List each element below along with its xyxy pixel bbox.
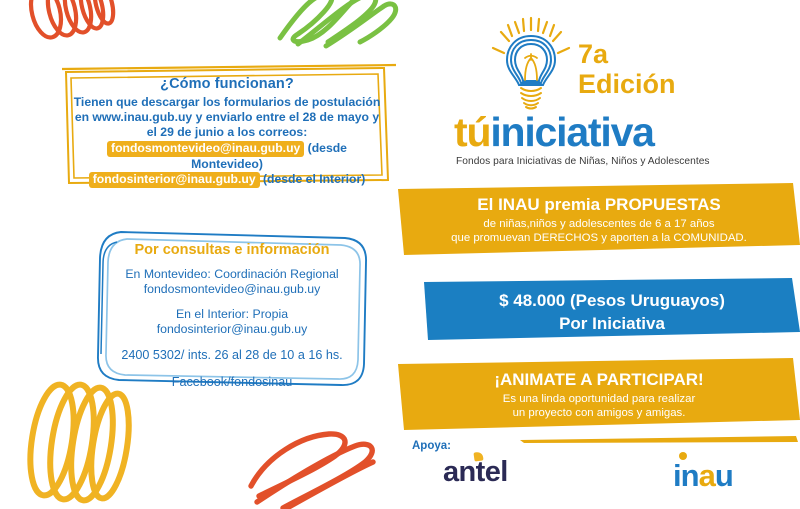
contact-int-label: En el Interior: Propia (109, 307, 355, 322)
banner-propuestas: El INAU premia PROPUESTAS de niñas,niños… (398, 183, 800, 255)
contact-mvd-email[interactable]: fondosmontevideo@inau.gub.uy (109, 282, 355, 297)
inau-letter-i: i (673, 458, 681, 493)
scribble-yellow-bottom-left (18, 378, 148, 509)
decor-line-yellow-bottom-right (398, 434, 800, 444)
how-box-email2-row: fondosinterior@inau.gub.uy (desde el Int… (71, 172, 383, 188)
banner-monto-sub1: Por Iniciativa (424, 313, 800, 334)
contact-mvd-label: En Montevideo: Coordinación Regional (109, 267, 355, 282)
contact-phone: 2400 5302/ ints. 26 al 28 de 10 a 16 hs. (109, 348, 355, 362)
banner-animate-sub2: un proyecto con amigos y amigas. (398, 406, 800, 420)
banner-propuestas-text: El INAU premia PROPUESTAS de niñas,niños… (398, 183, 800, 245)
banner-monto-title: $ 48.000 (Pesos Uruguayos) (424, 290, 800, 311)
how-box-title: ¿Cómo funcionan? (71, 76, 383, 92)
how-box-line1: Tienen que descargar los formularios de … (71, 95, 383, 110)
banner-animate-sub1: Es una linda oportunidad para realizar (398, 392, 800, 406)
inau-letter-u: u (715, 458, 733, 493)
contact-info-box: Por consultas e información En Montevide… (95, 228, 367, 391)
edition-label: 7a Edición (578, 39, 676, 99)
banner-propuestas-sub2: que promuevan DERECHOS y aporten a la CO… (398, 231, 800, 245)
inau-logo: inau (673, 458, 733, 494)
antel-accent-icon (473, 451, 483, 461)
wordmark-iniciativa: iniciativa (490, 109, 653, 155)
wordmark: túiniciativa (454, 110, 654, 154)
lightbulb-icon (485, 14, 577, 114)
scribble-orange-bottom-center (243, 428, 383, 509)
poster-canvas: ¿Cómo funcionan? Tienen que descargar lo… (0, 0, 800, 509)
inau-sun-icon (679, 452, 687, 460)
banner-animate-title: ¡ANIMATE A PARTICIPAR! (398, 370, 800, 390)
wordmark-tu: tú (454, 109, 490, 155)
how-box-email1-row: fondosmontevideo@inau.gub.uy (desde Mont… (71, 141, 383, 172)
scribble-orange-top-left (18, 0, 128, 54)
banner-propuestas-sub1: de niñas,niños y adolescentes de 6 a 17 … (398, 217, 800, 231)
banner-animate-text: ¡ANIMATE A PARTICIPAR! Es una linda opor… (398, 358, 800, 420)
email2-note: (desde el Interior) (260, 172, 366, 186)
banner-monto: $ 48.000 (Pesos Uruguayos) Por Iniciativ… (424, 278, 800, 340)
contact-gap (109, 298, 355, 307)
how-box-line2: en www.inau.gub.uy y enviarlo entre el 2… (71, 110, 383, 125)
contact-int-email[interactable]: fondosinterior@inau.gub.uy (109, 322, 355, 337)
inau-letter-a: a (699, 458, 715, 493)
contact-box-title: Por consultas e información (109, 242, 355, 258)
email-chip-interior[interactable]: fondosinterior@inau.gub.uy (89, 172, 260, 188)
email-chip-montevideo[interactable]: fondosmontevideo@inau.gub.uy (107, 141, 304, 157)
sponsors-label: Apoya: (412, 440, 451, 452)
banner-monto-text: $ 48.000 (Pesos Uruguayos) Por Iniciativ… (424, 278, 800, 334)
contact-facebook[interactable]: Facebook/fondosinau (109, 375, 355, 389)
edition-word: Edición (578, 69, 676, 99)
edition-number: 7a (578, 39, 676, 69)
banner-propuestas-title: El INAU premia PROPUESTAS (398, 195, 800, 215)
scribble-green-top (268, 0, 403, 50)
how-box-line3: el 29 de junio a los correos: (71, 125, 383, 140)
banner-animate: ¡ANIMATE A PARTICIPAR! Es una linda opor… (398, 358, 800, 430)
brand-logo-block: 7a Edición túiniciativa Fondos para Inic… (443, 14, 793, 169)
how-it-works-box: ¿Cómo funcionan? Tienen que descargar lo… (62, 66, 392, 186)
brand-tagline: Fondos para Iniciativas de Niñas, Niños … (456, 156, 710, 167)
inau-letter-n: n (681, 458, 699, 493)
